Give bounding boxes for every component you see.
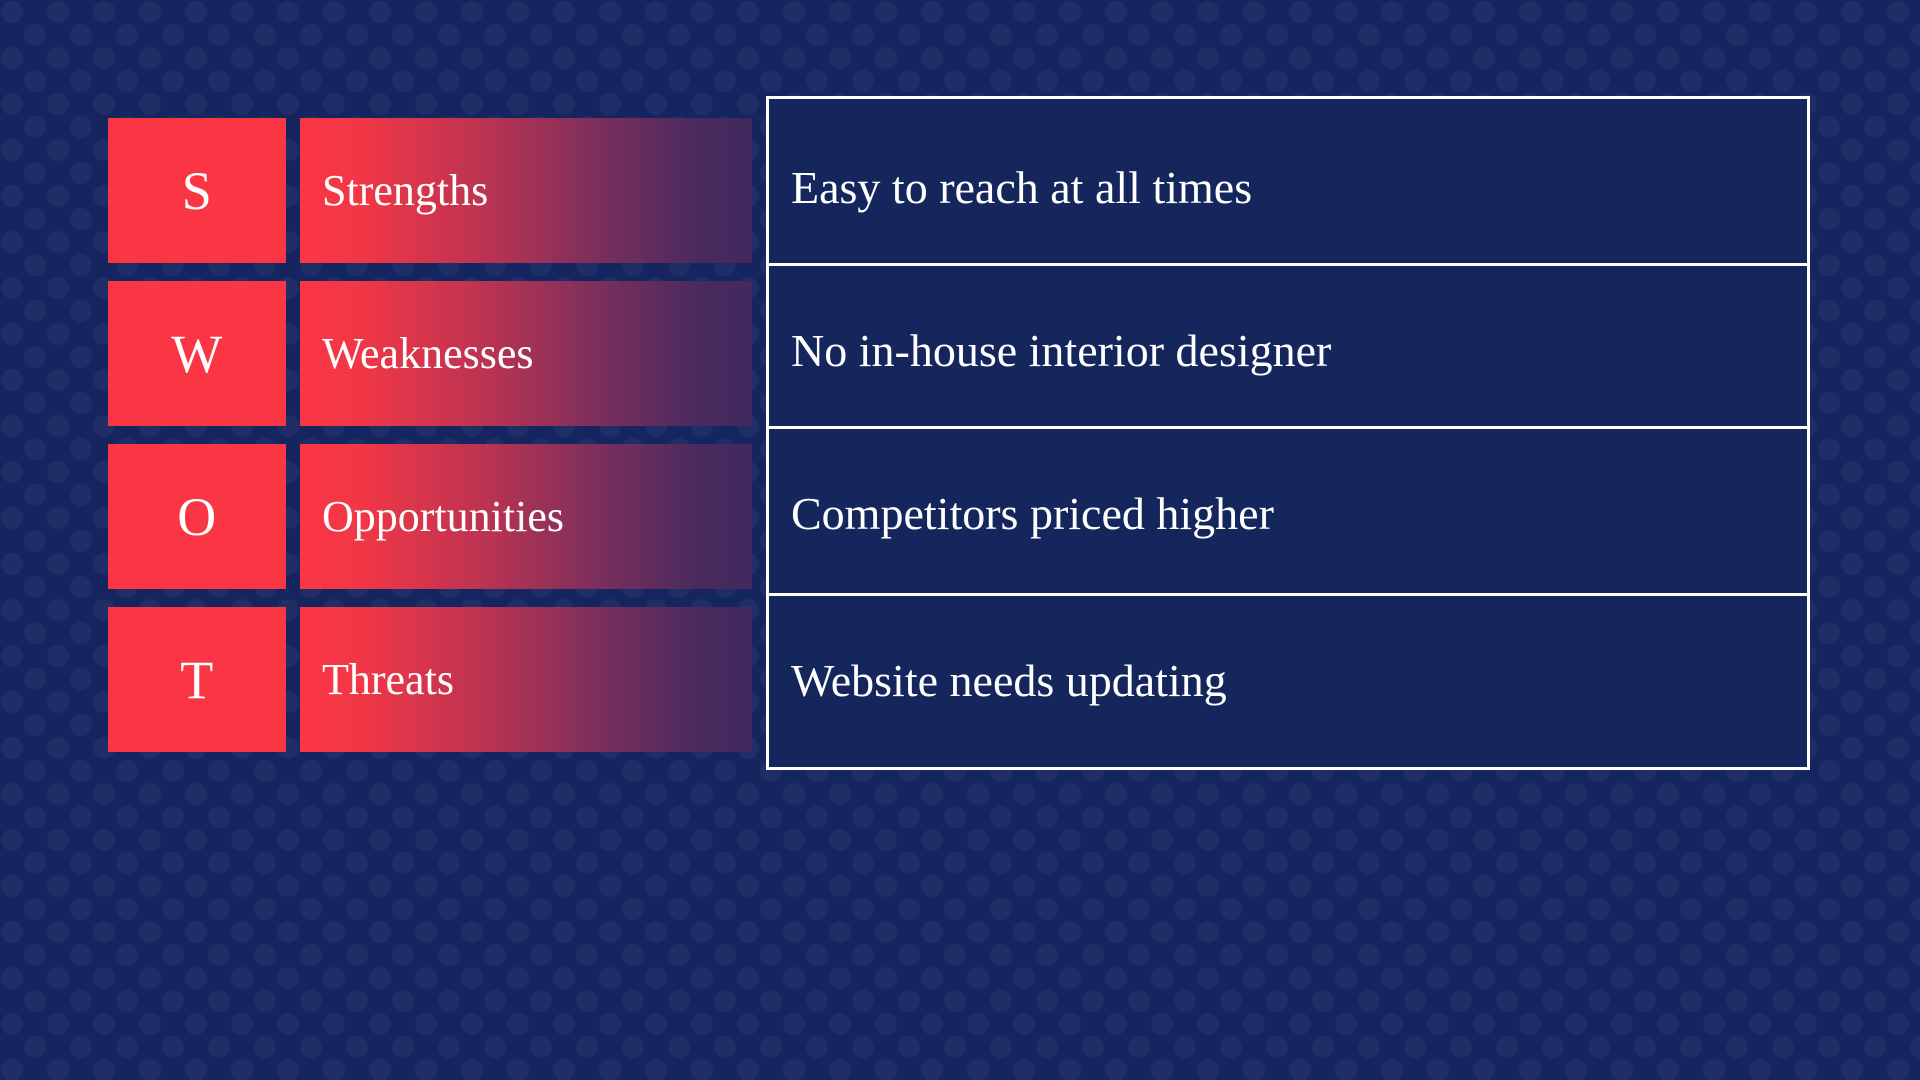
content-box-weaknesses[interactable]: No in-house interior designer bbox=[766, 263, 1810, 440]
letter-glyph-s: S bbox=[182, 164, 213, 218]
swot-rows-container: S Strengths Easy to reach at all times W… bbox=[108, 118, 1812, 968]
category-label-weaknesses: Weaknesses bbox=[322, 332, 534, 376]
swot-row-weaknesses[interactable]: W Weaknesses No in-house interior design… bbox=[108, 281, 1812, 426]
swot-row-strengths[interactable]: S Strengths Easy to reach at all times bbox=[108, 118, 1812, 263]
letter-tile-t: T bbox=[108, 607, 286, 752]
category-bar-strengths: Strengths bbox=[300, 118, 752, 263]
tile-gap bbox=[286, 281, 300, 426]
category-bar-opportunities: Opportunities bbox=[300, 444, 752, 589]
content-text-strengths: Easy to reach at all times bbox=[791, 164, 1252, 212]
content-box-threats[interactable]: Website needs updating bbox=[766, 593, 1810, 770]
swot-row-threats[interactable]: T Threats Website needs updating bbox=[108, 607, 1812, 752]
content-text-opportunities: Competitors priced higher bbox=[791, 490, 1274, 538]
tile-gap bbox=[286, 444, 300, 589]
bar-gap bbox=[752, 607, 766, 752]
content-box-opportunities[interactable]: Competitors priced higher bbox=[766, 426, 1810, 603]
category-bar-threats: Threats bbox=[300, 607, 752, 752]
tile-gap bbox=[286, 607, 300, 752]
letter-glyph-w: W bbox=[171, 327, 222, 381]
letter-tile-s: S bbox=[108, 118, 286, 263]
letter-glyph-t: T bbox=[180, 653, 214, 707]
letter-tile-o: O bbox=[108, 444, 286, 589]
bar-gap bbox=[752, 281, 766, 426]
category-label-opportunities: Opportunities bbox=[322, 495, 564, 539]
content-text-weaknesses: No in-house interior designer bbox=[791, 327, 1331, 375]
category-label-strengths: Strengths bbox=[322, 169, 488, 213]
category-label-threats: Threats bbox=[322, 658, 454, 702]
content-box-strengths[interactable]: Easy to reach at all times bbox=[766, 96, 1810, 281]
bar-gap bbox=[752, 444, 766, 589]
bar-gap bbox=[752, 118, 766, 263]
swot-slide: S Strengths Easy to reach at all times W… bbox=[0, 0, 1920, 1080]
content-text-threats: Website needs updating bbox=[791, 657, 1227, 705]
tile-gap bbox=[286, 118, 300, 263]
letter-glyph-o: O bbox=[177, 490, 217, 544]
swot-row-opportunities[interactable]: O Opportunities Competitors priced highe… bbox=[108, 444, 1812, 589]
category-bar-weaknesses: Weaknesses bbox=[300, 281, 752, 426]
letter-tile-w: W bbox=[108, 281, 286, 426]
